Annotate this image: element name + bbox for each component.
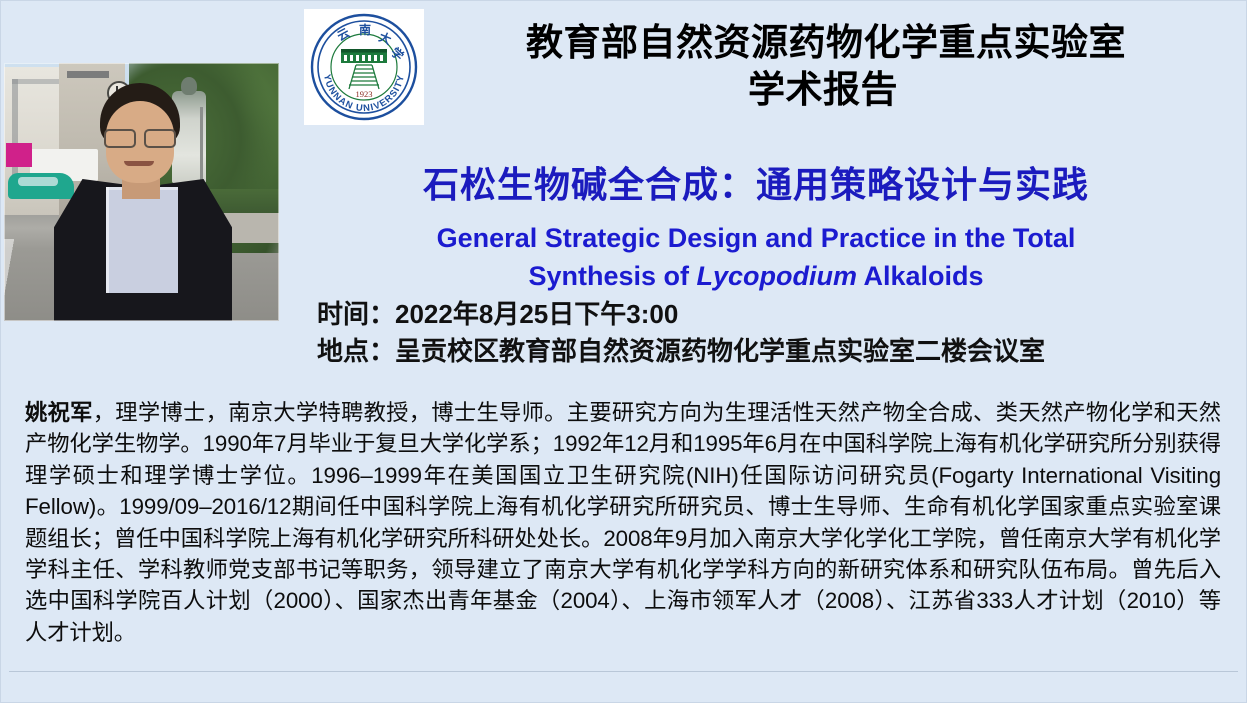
speaker-biography: 姚祝军，理学博士，南京大学特聘教授，博士生导师。主要研究方向为生理活性天然产物全… [25, 397, 1221, 648]
photo-person [48, 83, 238, 321]
university-logo-icon: 云 南 大 学 1923 YUNNAN UNIVERSITY [304, 9, 424, 125]
photo-shirt [106, 187, 178, 293]
svg-text:南: 南 [359, 22, 371, 37]
talk-title-english-line1: General Strategic Design and Practice in… [286, 219, 1226, 257]
seminar-poster: 云 南 大 学 1923 YUNNAN UNIVERSITY 教育部自然资源药物… [0, 0, 1247, 703]
speaker-bio-text: ，理学博士，南京大学特聘教授，博士生导师。主要研究方向为生理活性天然产物全合成、… [25, 400, 1221, 645]
bottom-divider [9, 671, 1238, 672]
lab-name: 教育部自然资源药物化学重点实验室 [431, 19, 1221, 66]
title-en-genus: Lycopodium [697, 261, 858, 291]
photo-mouth [124, 161, 154, 166]
event-place-row: 地点：呈贡校区教育部自然资源药物化学重点实验室二楼会议室 [317, 333, 1217, 370]
glasses-icon [104, 129, 176, 144]
photo-background [4, 63, 279, 321]
speaker-name: 姚祝军 [25, 400, 93, 425]
talk-title-chinese: 石松生物碱全合成：通用策略设计与实践 [286, 156, 1226, 208]
event-type: 学术报告 [425, 66, 1221, 113]
speaker-photo [4, 63, 279, 321]
talk-title-english: General Strategic Design and Practice in… [286, 219, 1226, 296]
event-meta: 时间：2022年8月25日下午3:00 地点：呈贡校区教育部自然资源药物化学重点… [317, 296, 1217, 371]
event-place-label: 地点： [317, 336, 395, 366]
event-time-value: 2022年8月25日下午3:00 [395, 299, 678, 329]
talk-title-english-line2: Synthesis of Lycopodium Alkaloids [286, 257, 1226, 295]
title-en-prefix: Synthesis of [528, 261, 696, 291]
title-en-suffix: Alkaloids [857, 261, 984, 291]
event-place-value: 呈贡校区教育部自然资源药物化学重点实验室二楼会议室 [395, 336, 1045, 366]
svg-text:1923: 1923 [356, 89, 373, 99]
event-time-row: 时间：2022年8月25日下午3:00 [317, 296, 1217, 333]
poster-header: 教育部自然资源药物化学重点实验室 学术报告 [431, 19, 1221, 114]
event-time-label: 时间： [317, 299, 395, 329]
